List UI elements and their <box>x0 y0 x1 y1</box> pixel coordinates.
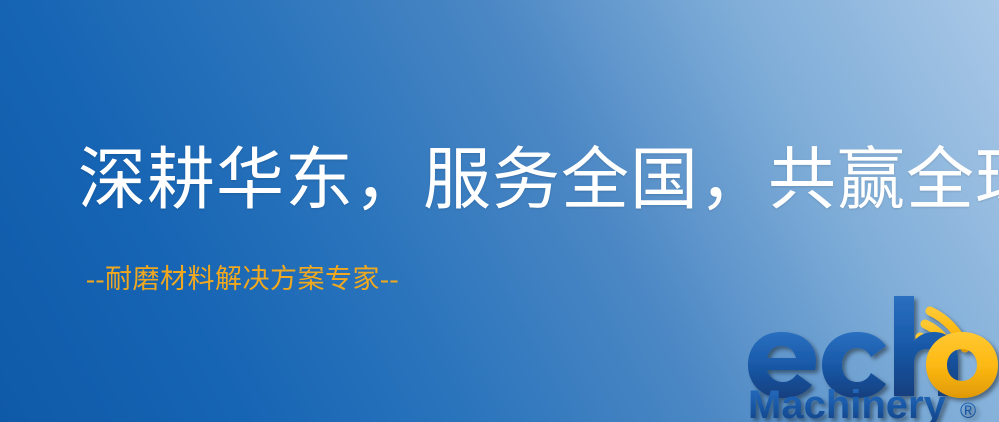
echo-machinery-logo[interactable]: Machinery ® <box>744 292 999 422</box>
hero-banner: 深耕华东，服务全国，共赢全球 --耐磨材料解决方案专家-- <box>0 0 999 422</box>
banner-subtitle: --耐磨材料解决方案专家-- <box>86 266 399 293</box>
registered-trademark-icon: ® <box>960 398 976 422</box>
banner-headline: 深耕华东，服务全国，共赢全球 <box>78 146 999 214</box>
logo-tagline: Machinery <box>748 383 947 422</box>
